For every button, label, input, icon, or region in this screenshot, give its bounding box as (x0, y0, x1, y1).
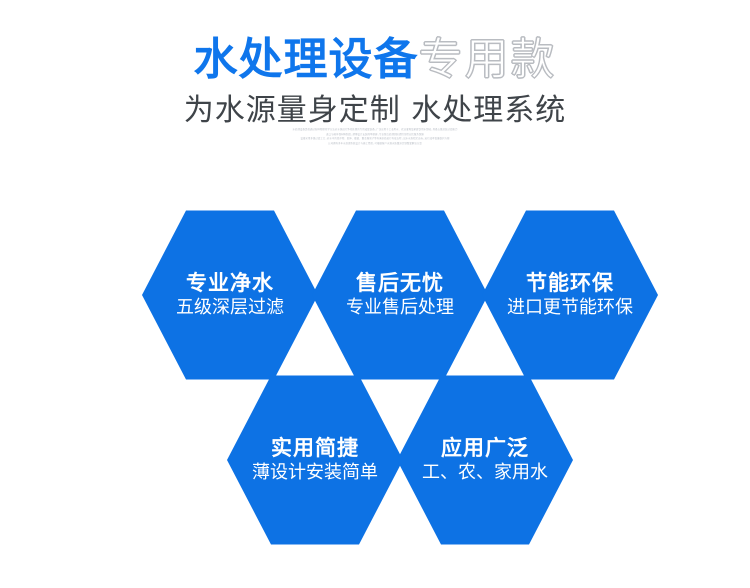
feature-subtitle: 进口更节能环保 (507, 298, 633, 319)
feature-hexagon-after-sales[interactable]: 售后无忧 专业售后处理 (312, 207, 488, 383)
feature-hexagon-professional-purification[interactable]: 专业净水 五级深层过滤 (142, 207, 318, 383)
feature-title: 节能环保 (526, 271, 614, 295)
feature-hexagon-energy-saving[interactable]: 节能环保 进口更节能环保 (482, 207, 658, 383)
feature-subtitle: 专业售后处理 (346, 298, 454, 319)
feature-hexagon-grid: 专业净水 五级深层过滤 售后无忧 专业售后处理 节能环保 进口更节能环保 实用简… (0, 0, 750, 588)
feature-title: 实用简捷 (271, 436, 359, 460)
promo-banner: 水处理设备专用款 为水源量身定制 水处理系统 水处理设备是指通过各种物理化学方法… (0, 0, 750, 588)
feature-title: 应用广泛 (441, 436, 529, 460)
feature-subtitle: 五级深层过滤 (176, 298, 284, 319)
feature-title: 专业净水 (186, 271, 274, 295)
feature-title: 售后无忧 (356, 271, 444, 295)
feature-subtitle: 工、农、家用水 (422, 463, 548, 484)
feature-hexagon-wide-application[interactable]: 应用广泛 工、农、家用水 (397, 372, 573, 548)
feature-subtitle: 薄设计安装简单 (252, 463, 378, 484)
feature-hexagon-practical-simple[interactable]: 实用简捷 薄设计安装简单 (227, 372, 403, 548)
